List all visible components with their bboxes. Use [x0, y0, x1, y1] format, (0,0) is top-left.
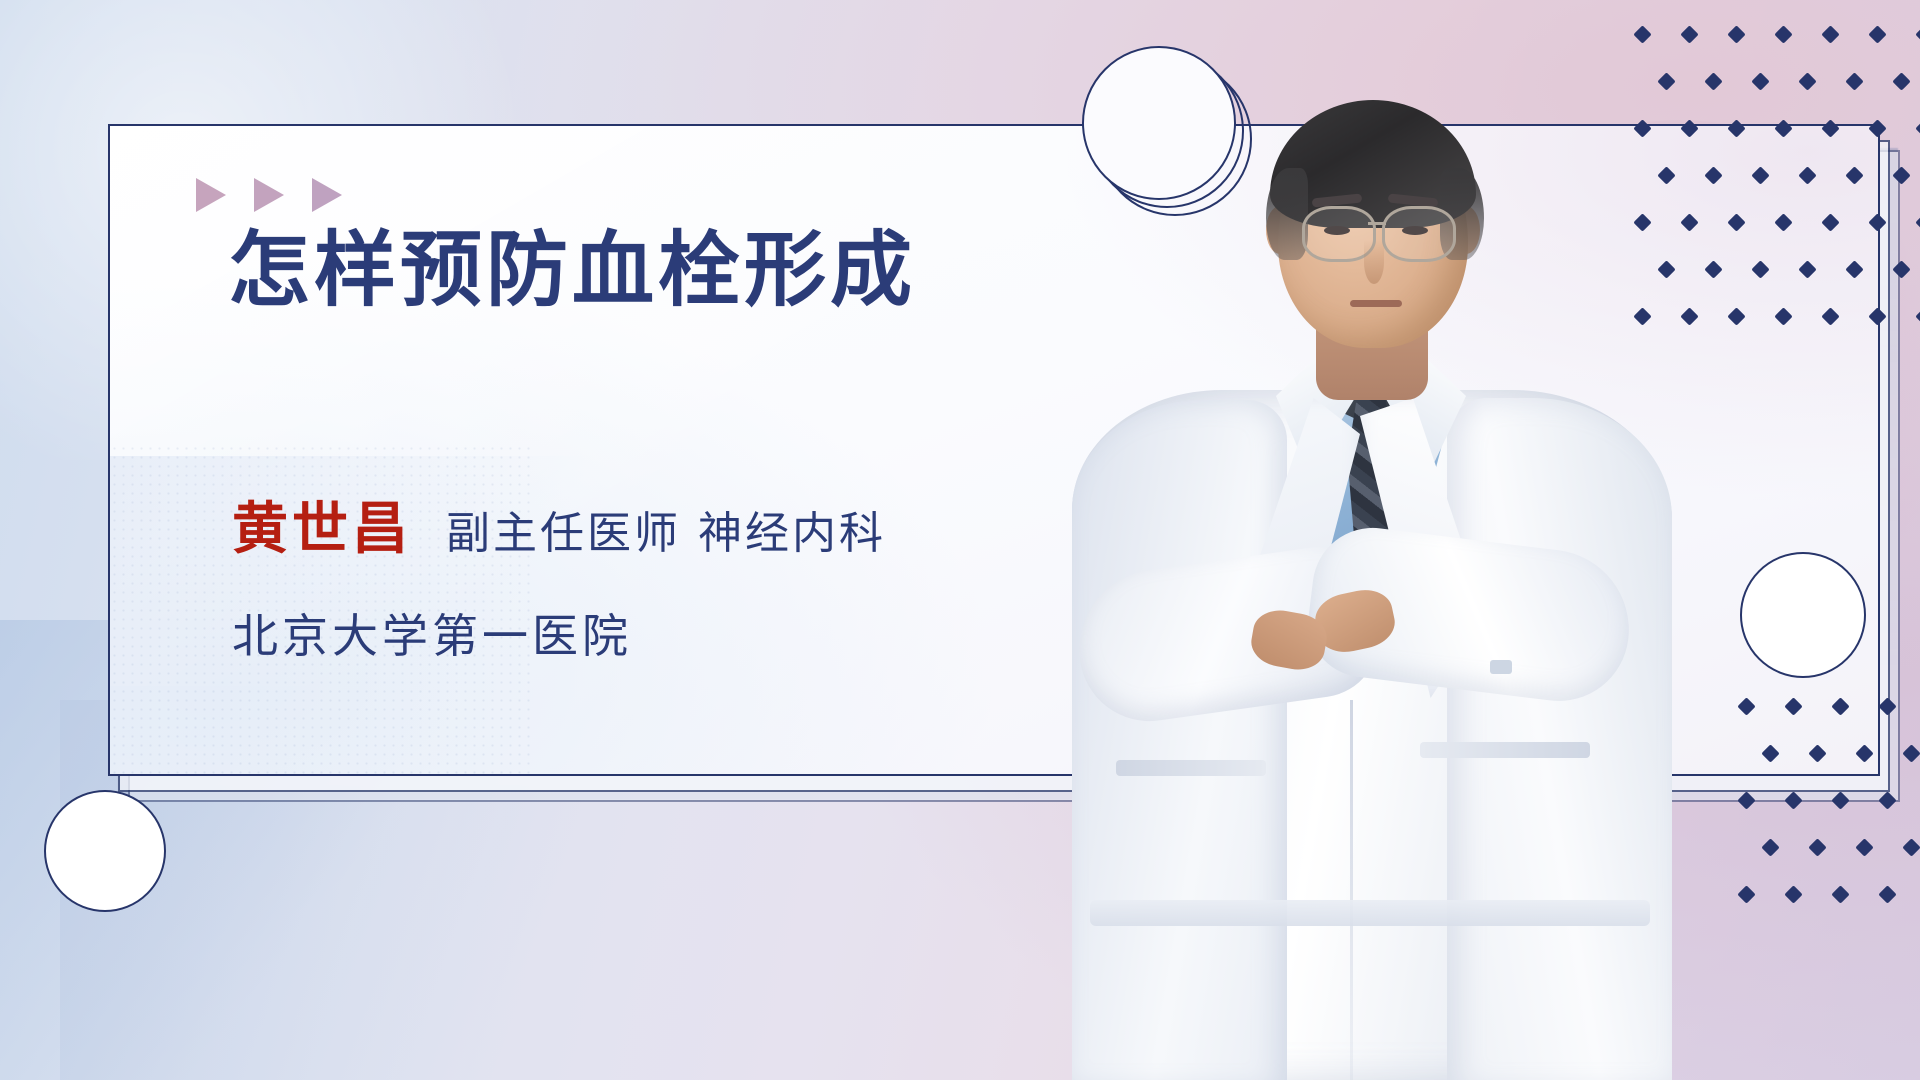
doctor-coat-right	[1447, 398, 1672, 1080]
circle-right-mid-icon	[1740, 552, 1866, 678]
triangle-1-icon	[196, 178, 226, 212]
doctor-glasses-right-lens	[1382, 206, 1456, 262]
speaker-line: 黄世昌 副主任医师 神经内科	[232, 484, 886, 565]
doctor-pocket-right	[1420, 742, 1590, 758]
doctor-badge	[1490, 660, 1512, 674]
speaker-credentials: 副主任医师 神经内科	[446, 497, 886, 561]
slide-canvas: 怎样预防血栓形成 黄世昌 副主任医师 神经内科 北京大学第一医院	[0, 0, 1920, 1080]
speaker-hospital: 北京大学第一医院	[232, 600, 632, 666]
doctor-coat-belt	[1090, 900, 1650, 926]
triangle-2-icon	[254, 178, 284, 212]
doctor-mouth	[1350, 300, 1402, 307]
doctor-portrait	[1020, 0, 1720, 1080]
doctor-pocket-left	[1116, 760, 1266, 776]
doctor-coat-left	[1072, 400, 1287, 1080]
doctor-glasses-bridge	[1368, 222, 1386, 225]
dot-grid-bottom-right	[1740, 700, 1920, 900]
doctor-nose	[1364, 240, 1384, 284]
doctor-hair-left	[1266, 168, 1308, 260]
speaker-name: 黄世昌	[232, 484, 412, 565]
doctor-coat-seam	[1350, 700, 1353, 1080]
triangle-group	[196, 178, 342, 212]
circle-bottom-left-icon	[44, 790, 166, 912]
triangle-3-icon	[312, 178, 342, 212]
slide-title: 怎样预防血栓形成	[228, 230, 916, 312]
